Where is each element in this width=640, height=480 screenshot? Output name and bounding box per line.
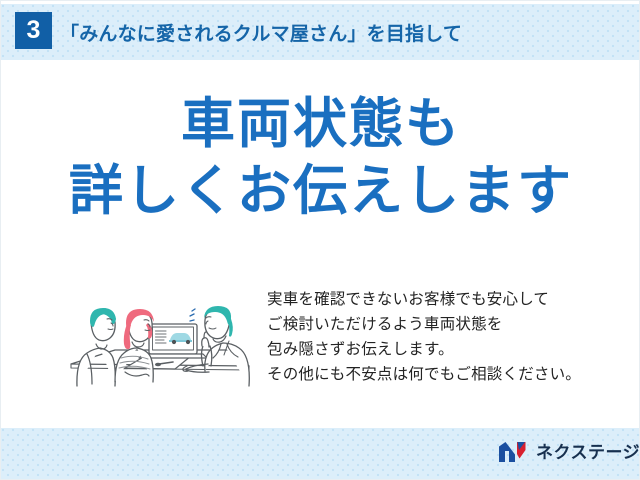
body-copy-line-2: ご検討いただけるよう車両状態を	[267, 312, 617, 337]
step-number-label: 3	[27, 18, 41, 43]
body-copy-line-1: 実車を確認できないお客様でも安心して	[267, 287, 617, 312]
body-copy-line-3: 包み隠さずお伝えします。	[267, 337, 617, 362]
headline-line-2: 詳しくお伝えします	[1, 164, 640, 218]
body-copy: 実車を確認できないお客様でも安心して ご検討いただけるよう車両状態を 包み隠さず…	[267, 287, 617, 387]
headline-line-1: 車両状態も	[1, 97, 640, 151]
headline: 車両状態も 詳しくお伝えします	[1, 97, 640, 218]
nextage-logo: ネクステージ	[498, 441, 640, 463]
step-number-badge: 3	[15, 12, 52, 49]
nextage-wordmark: ネクステージ	[536, 444, 640, 461]
body-copy-line-4: その他にも不安点は何でもご相談ください。	[267, 362, 617, 387]
header-title: 「みんなに愛されるクルマ屋さん」を目指して	[60, 19, 462, 46]
consultation-illustration	[63, 278, 255, 392]
promo-banner: 3 「みんなに愛されるクルマ屋さん」を目指して 車両状態も 詳しくお伝えします	[0, 0, 640, 480]
nextage-n-mark-icon	[498, 441, 529, 463]
